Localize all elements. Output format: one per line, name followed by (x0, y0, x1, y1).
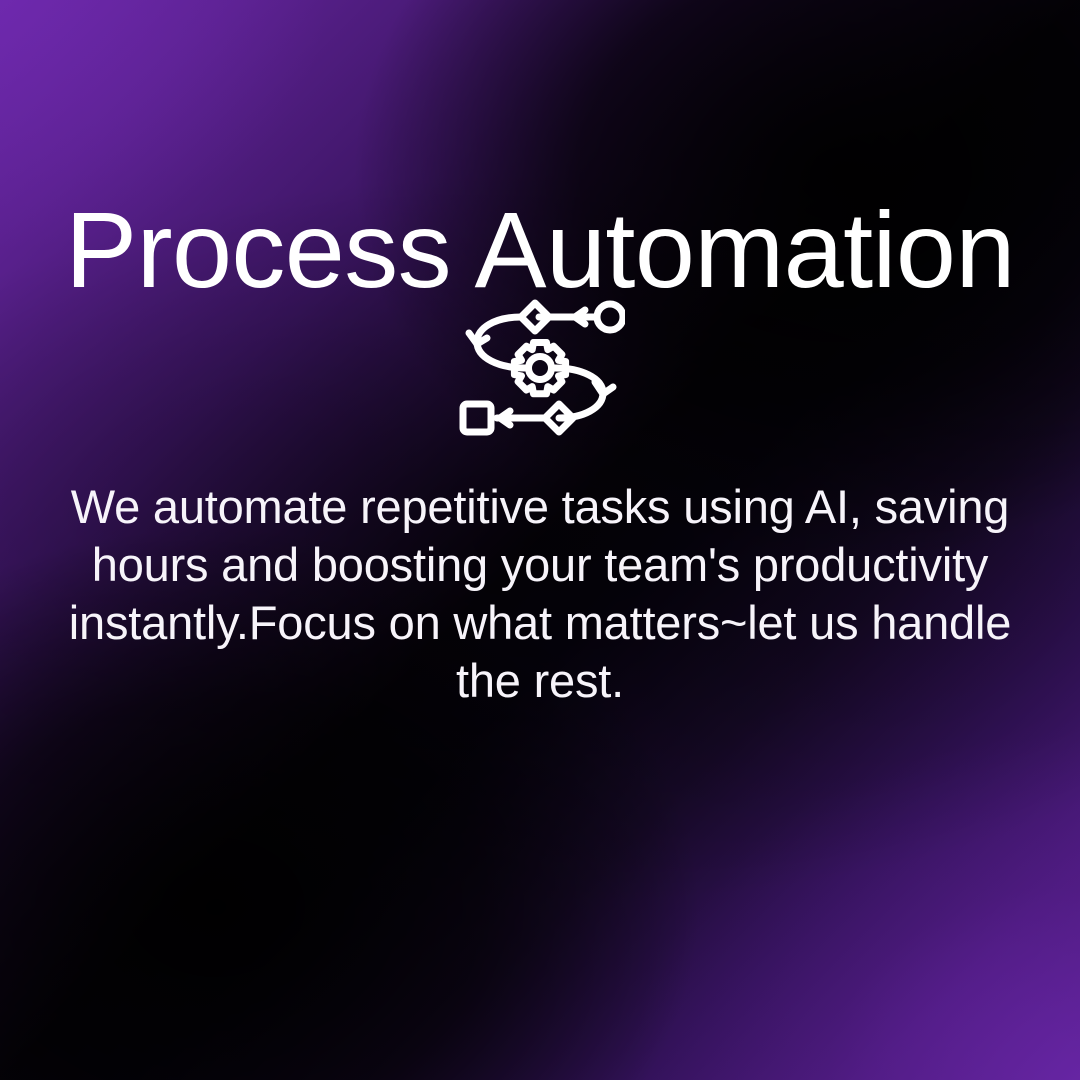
body-line-4: the rest. (30, 652, 1050, 710)
circle-node (597, 304, 623, 330)
body-line-2: hours and boosting your team's productiv… (30, 536, 1050, 594)
diamond-node-top (521, 303, 549, 331)
square-node (463, 404, 491, 432)
body-line-1: We automate repetitive tasks using AI, s… (30, 478, 1050, 536)
process-automation-workflow-icon (455, 286, 625, 441)
gear-center-hole (529, 357, 552, 380)
process-automation-slide: Process Automation (0, 0, 1080, 1080)
body-line-3: instantly.Focus on what matters~let us h… (30, 594, 1050, 652)
slide-content: Process Automation (0, 0, 1080, 1080)
body-copy: We automate repetitive tasks using AI, s… (30, 478, 1050, 710)
